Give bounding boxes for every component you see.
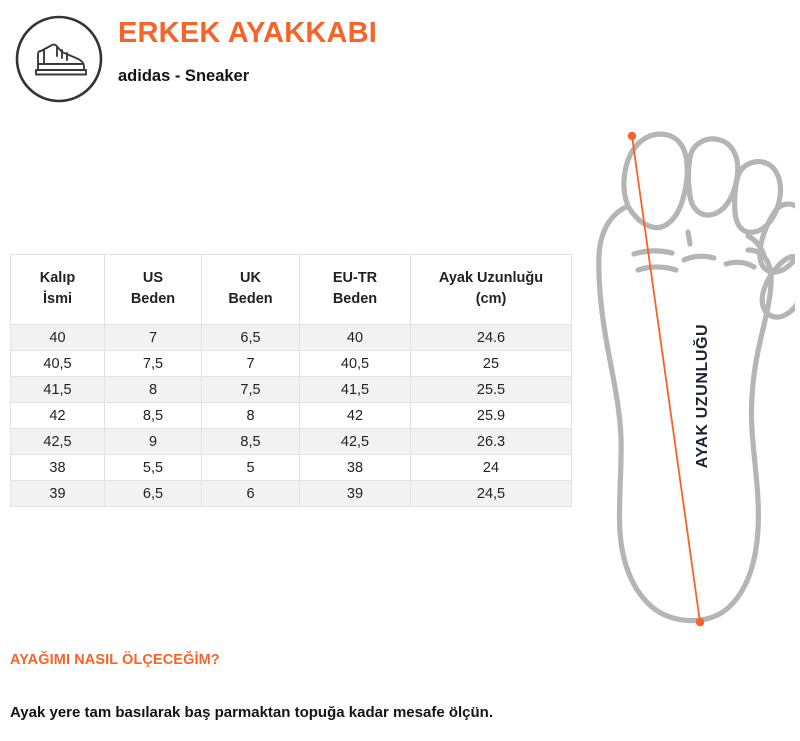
measure-instruction-text: Ayak yere tam basılarak baş parmaktan to… [10, 703, 610, 723]
cell-eu-tr-beden: 41,5 [300, 377, 411, 403]
cell-kalip-ismi: 40 [11, 325, 105, 351]
cell-uk-beden: 7,5 [202, 377, 300, 403]
column-header-line2: Beden [204, 289, 297, 310]
cell-kalip-ismi: 39 [11, 481, 105, 507]
cell-kalip-ismi: 42 [11, 403, 105, 429]
cell-uk-beden: 8 [202, 403, 300, 429]
table-row: 40,5 7,5 7 40,5 25 [11, 351, 572, 377]
cell-us-beden: 8,5 [105, 403, 202, 429]
cell-ayak-uzunlugu: 25.5 [411, 377, 572, 403]
cell-eu-tr-beden: 38 [300, 455, 411, 481]
cell-ayak-uzunlugu: 24,5 [411, 481, 572, 507]
table-row: 42,5 9 8,5 42,5 26.3 [11, 429, 572, 455]
table-row: 38 5,5 5 38 24 [11, 455, 572, 481]
page-subtitle: adidas - Sneaker [118, 65, 377, 87]
column-header-us-beden: US Beden [105, 255, 202, 325]
cell-eu-tr-beden: 39 [300, 481, 411, 507]
measure-instructions: AYAĞIMI NASIL ÖLÇECEĞİM? Ayak yere tam b… [10, 650, 610, 723]
column-header-line2: İsmi [13, 289, 102, 310]
cell-eu-tr-beden: 40 [300, 325, 411, 351]
cell-us-beden: 7 [105, 325, 202, 351]
cell-ayak-uzunlugu: 24.6 [411, 325, 572, 351]
cell-us-beden: 7,5 [105, 351, 202, 377]
column-header-uk-beden: UK Beden [202, 255, 300, 325]
column-header-line1: Kalıp [13, 268, 102, 289]
size-chart-table: Kalıp İsmi US Beden UK Beden EU-TR Beden… [10, 254, 572, 507]
foot-sole-diagram [580, 110, 795, 645]
cell-us-beden: 5,5 [105, 455, 202, 481]
column-header-line2: Beden [107, 289, 199, 310]
table-row: 42 8,5 8 42 25.9 [11, 403, 572, 429]
column-header-eu-tr-beden: EU-TR Beden [300, 255, 411, 325]
column-header-line2: Beden [302, 289, 408, 310]
page-title: ERKEK AYAKKABI [118, 14, 377, 52]
column-header-line1: UK [204, 268, 297, 289]
cell-uk-beden: 8,5 [202, 429, 300, 455]
cell-uk-beden: 6 [202, 481, 300, 507]
cell-us-beden: 6,5 [105, 481, 202, 507]
cell-ayak-uzunlugu: 25.9 [411, 403, 572, 429]
cell-kalip-ismi: 41,5 [11, 377, 105, 403]
cell-us-beden: 8 [105, 377, 202, 403]
cell-kalip-ismi: 42,5 [11, 429, 105, 455]
table-row: 39 6,5 6 39 24,5 [11, 481, 572, 507]
column-header-line1: US [107, 268, 199, 289]
column-header-ayak-uzunlugu: Ayak Uzunluğu (cm) [411, 255, 572, 325]
cell-uk-beden: 5 [202, 455, 300, 481]
column-header-line2: (cm) [413, 289, 569, 310]
table-row: 41,5 8 7,5 41,5 25.5 [11, 377, 572, 403]
column-header-kalip-ismi: Kalıp İsmi [11, 255, 105, 325]
cell-eu-tr-beden: 42 [300, 403, 411, 429]
column-header-line1: EU-TR [302, 268, 408, 289]
cell-ayak-uzunlugu: 25 [411, 351, 572, 377]
table-header-row: Kalıp İsmi US Beden UK Beden EU-TR Beden… [11, 255, 572, 325]
cell-kalip-ismi: 38 [11, 455, 105, 481]
cell-eu-tr-beden: 42,5 [300, 429, 411, 455]
cell-us-beden: 9 [105, 429, 202, 455]
header-text-block: ERKEK AYAKKABI adidas - Sneaker [118, 14, 377, 87]
page-header: ERKEK AYAKKABI adidas - Sneaker [0, 0, 800, 115]
cell-eu-tr-beden: 40,5 [300, 351, 411, 377]
measure-heading: AYAĞIMI NASIL ÖLÇECEĞİM? [10, 650, 610, 670]
cell-kalip-ismi: 40,5 [11, 351, 105, 377]
cell-uk-beden: 6,5 [202, 325, 300, 351]
cell-ayak-uzunlugu: 26.3 [411, 429, 572, 455]
table-row: 40 7 6,5 40 24.6 [11, 325, 572, 351]
sneaker-icon [14, 14, 104, 104]
column-header-line1: Ayak Uzunluğu [413, 268, 569, 289]
cell-uk-beden: 7 [202, 351, 300, 377]
cell-ayak-uzunlugu: 24 [411, 455, 572, 481]
